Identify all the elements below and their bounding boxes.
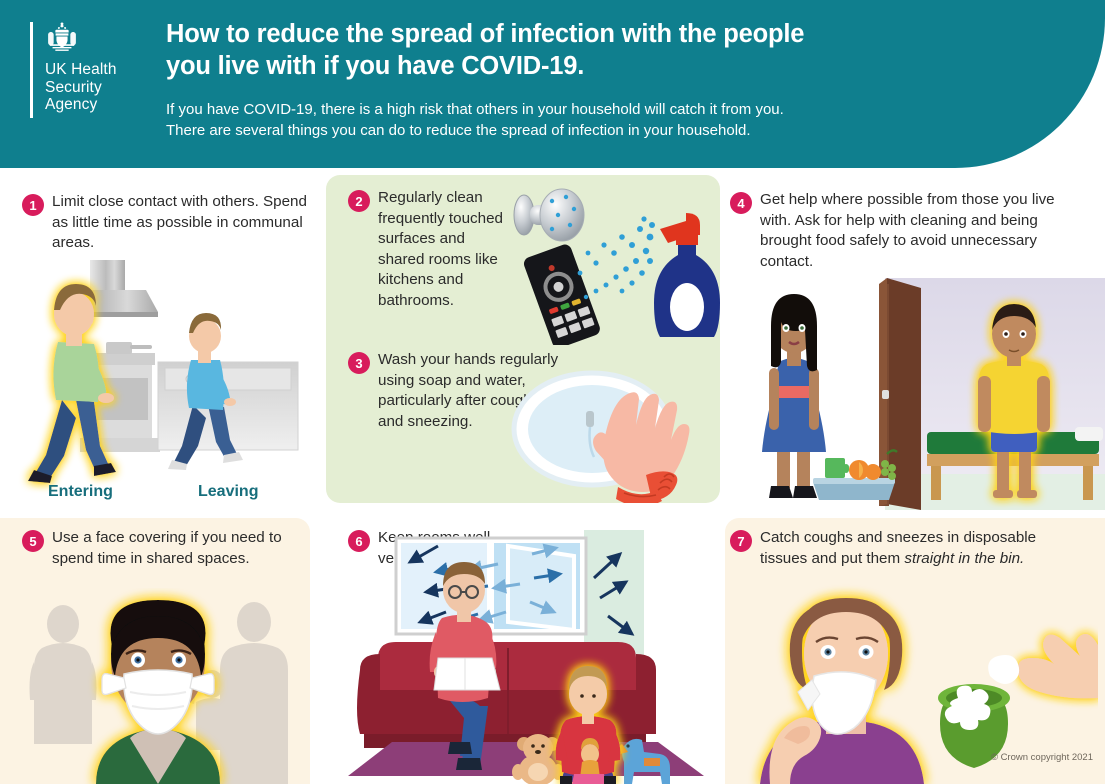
step-1-text: Limit close contact with others. Spend a… xyxy=(52,192,312,254)
step-5-text: Use a face covering if you need to spend… xyxy=(52,528,292,569)
copyright-notice: © Crown copyright 2021 xyxy=(991,752,1093,763)
logo-line-1: UK Health xyxy=(45,61,150,79)
illustration-face-covering xyxy=(18,588,308,784)
person-helper xyxy=(762,294,826,498)
poster-root: UK Health Security Agency How to reduce … xyxy=(0,0,1105,784)
hand-dropping-tissue xyxy=(1018,634,1098,698)
person-wearing-mask xyxy=(96,600,220,784)
royal-crest-icon xyxy=(45,22,79,52)
step-7-text-emphasis: straight in the bin. xyxy=(904,550,1024,567)
step-2: 2 Regularly clean frequently touched sur… xyxy=(348,188,508,311)
step-7-text: Catch coughs and sneezes in disposable t… xyxy=(760,528,1060,569)
caption-entering: Entering xyxy=(48,483,113,501)
step-2-badge: 2 xyxy=(348,190,370,212)
step-4: 4 Get help where possible from those you… xyxy=(730,190,1080,272)
step-3-badge: 3 xyxy=(348,352,370,374)
step-5: 5 Use a face covering if you need to spe… xyxy=(22,528,292,569)
step-1-badge: 1 xyxy=(22,194,44,216)
spray-bottle-icon xyxy=(654,213,720,337)
page-header: UK Health Security Agency How to reduce … xyxy=(0,0,1105,168)
step-2-text: Regularly clean frequently touched surfa… xyxy=(378,188,508,311)
page-title: How to reduce the spread of infection wi… xyxy=(166,18,976,82)
page-subtitle-line-1: If you have COVID-19, there is a high ri… xyxy=(166,100,996,121)
ukhsa-logo: UK Health Security Agency xyxy=(30,22,150,118)
spray-droplets xyxy=(578,216,655,299)
step-7-badge: 7 xyxy=(730,530,752,552)
step-4-text: Get help where possible from those you l… xyxy=(760,190,1080,272)
remote-control-icon xyxy=(522,243,602,345)
doorknob-icon xyxy=(514,189,584,241)
illustration-cleaning-spray xyxy=(500,185,722,345)
illustration-kitchen-entering-leaving xyxy=(10,250,310,508)
page-subtitle-line-2: There are several things you can do to r… xyxy=(166,121,996,142)
person-using-tissue xyxy=(760,598,924,784)
page-title-line-2: you live with if you have COVID-19. xyxy=(166,50,976,82)
page-subtitle: If you have COVID-19, there is a high ri… xyxy=(166,100,996,141)
step-5-badge: 5 xyxy=(22,530,44,552)
logo-line-2: Security xyxy=(45,79,150,97)
logo-line-3: Agency xyxy=(45,96,150,114)
illustration-handwashing xyxy=(500,355,722,503)
step-7: 7 Catch coughs and sneezes in disposable… xyxy=(730,528,1060,569)
illustration-food-delivery-at-door xyxy=(735,272,1105,510)
caption-leaving: Leaving xyxy=(198,483,258,501)
illustration-ventilated-room xyxy=(338,530,720,784)
step-4-badge: 4 xyxy=(730,192,752,214)
step-1: 1 Limit close contact with others. Spend… xyxy=(22,192,312,254)
page-title-line-1: How to reduce the spread of infection wi… xyxy=(166,18,976,50)
